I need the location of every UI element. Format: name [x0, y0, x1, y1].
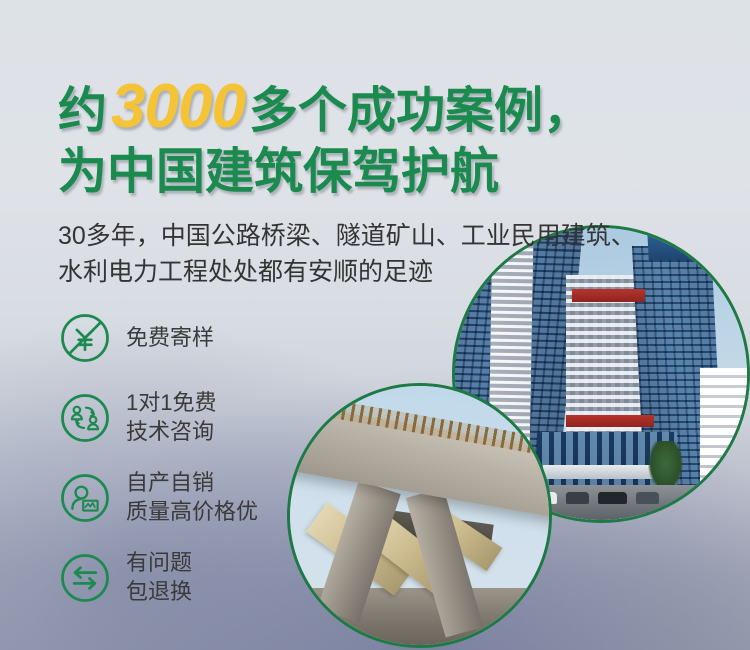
headline-number: 3000 — [107, 72, 249, 141]
feature-label-line-2: 包退换 — [126, 578, 192, 607]
description-line-2: 水利电力工程处处都有安顺的足迹 — [58, 254, 636, 290]
feature-label: 有问题 包退换 — [126, 549, 192, 606]
banner-copy-block: 约3000多个成功案例， 为中国建筑保驾护航 30多年，中国公路桥梁、隧道矿山、… — [58, 74, 636, 290]
one-on-one-consult-icon — [58, 391, 112, 445]
promotional-banner: 约3000多个成功案例， 为中国建筑保驾护航 30多年，中国公路桥梁、隧道矿山、… — [0, 0, 750, 650]
return-exchange-icon — [58, 551, 112, 605]
facade-red-signage — [566, 415, 654, 427]
page-subtitle: 为中国建筑保驾护航 — [58, 146, 636, 200]
feature-label-line-2: 质量高价格优 — [126, 498, 258, 527]
headline-prefix: 约 — [58, 84, 107, 138]
feature-list: 免费寄样 1对1免费 技术咨询 — [58, 298, 358, 618]
description-text: 30多年，中国公路桥梁、隧道矿山、工业民用建筑、 水利电力工程处处都有安顺的足迹 — [58, 218, 636, 291]
feature-item-return-exchange[interactable]: 有问题 包退换 — [58, 538, 358, 618]
feature-label-line-1: 免费寄样 — [126, 324, 214, 353]
feature-item-consultation[interactable]: 1对1免费 技术咨询 — [58, 378, 358, 458]
feature-label-line-1: 1对1免费 — [126, 389, 216, 418]
headline-suffix: 多个成功案例， — [249, 84, 592, 138]
feature-label-line-1: 自产自销 — [126, 469, 258, 498]
feature-label-line-2: 技术咨询 — [126, 418, 216, 447]
description-line-1: 30多年，中国公路桥梁、隧道矿山、工业民用建筑、 — [58, 218, 636, 254]
parked-car — [636, 492, 659, 504]
feature-item-self-production[interactable]: 自产自销 质量高价格优 — [58, 458, 358, 538]
parked-car — [566, 492, 589, 504]
feature-label: 自产自销 质量高价格优 — [126, 469, 258, 526]
self-produce-sell-icon — [58, 471, 112, 525]
feature-label-line-1: 有问题 — [126, 549, 192, 578]
street-tree — [648, 441, 683, 491]
feature-item-free-sample[interactable]: 免费寄样 — [58, 298, 358, 378]
feature-label: 1对1免费 技术咨询 — [126, 389, 216, 446]
tower-right-crown — [647, 231, 701, 260]
parked-car — [598, 492, 627, 504]
page-title: 约3000多个成功案例， — [58, 74, 636, 140]
feature-label: 免费寄样 — [126, 324, 214, 353]
free-sample-icon — [58, 311, 112, 365]
rooftop-red-signage — [572, 289, 645, 302]
